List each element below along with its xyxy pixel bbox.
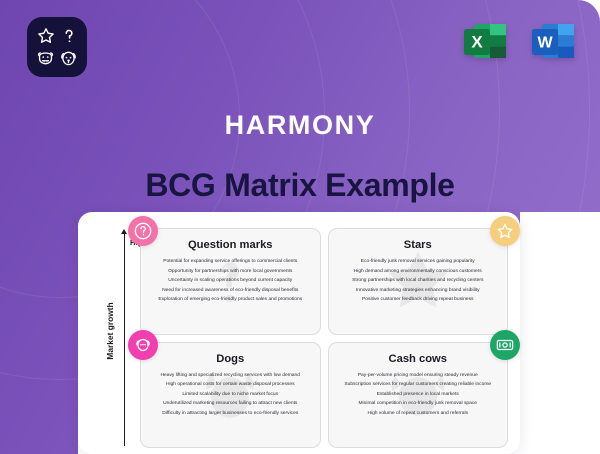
list-item: Positive customer feedback driving repea… <box>336 295 501 305</box>
brand-logo[interactable] <box>27 17 87 77</box>
list-item: Limited scalability due to niche market … <box>148 390 313 400</box>
list-item: Exploration of emerging eco-friendly pro… <box>148 295 313 305</box>
list-item: Established presence in local markets <box>336 390 501 400</box>
list-item: High operational costs for certain waste… <box>148 380 313 390</box>
list-item: Uncertainty in scaling operations beyond… <box>148 276 313 286</box>
svg-text:X: X <box>471 33 483 52</box>
quadrant-item-list: Heavy lifting and specialized recycling … <box>148 371 313 419</box>
cow-icon <box>35 48 57 70</box>
list-item: Innovative marketing strategies enhancin… <box>336 286 501 296</box>
y-axis-title: Market growth <box>105 276 115 386</box>
quadrant-dogs[interactable]: Dogs Heavy lifting and specialized recyc… <box>140 342 321 449</box>
quadrant-title: Question marks <box>188 239 273 251</box>
svg-text:W: W <box>537 35 553 52</box>
list-item: Minimal competition in eco-friendly junk… <box>336 399 501 409</box>
list-item: Need for increased awareness of eco-frie… <box>148 286 313 296</box>
brand-name: HARMONY <box>0 110 600 141</box>
quadrant-item-list: Pay-per-volume pricing model ensuring st… <box>336 371 501 419</box>
list-item: Subscription services for regular custom… <box>336 380 501 390</box>
quadrant-title: Cash cows <box>389 353 447 365</box>
quadrant-item-list: Potential for expanding service offering… <box>148 257 313 305</box>
list-item: Difficulty in attracting larger business… <box>148 409 313 419</box>
list-item: High volume of repeat customers and refe… <box>336 409 501 419</box>
question-mark-icon <box>58 25 80 47</box>
list-item: High demand among environmentally consci… <box>336 267 501 277</box>
star-badge[interactable] <box>490 216 520 246</box>
matrix-grid: Question marks Potential for expanding s… <box>140 228 508 448</box>
dog-icon <box>58 48 80 70</box>
quadrant-question-marks[interactable]: Question marks Potential for expanding s… <box>140 228 321 335</box>
list-item: Pay-per-volume pricing model ensuring st… <box>336 371 501 381</box>
question-mark-badge[interactable] <box>128 216 158 246</box>
quadrant-cash-cows[interactable]: Cash cows Pay-per-volume pricing model e… <box>328 342 509 449</box>
quadrant-title: Dogs <box>216 353 244 365</box>
quadrant-item-list: Eco-friendly junk removal services gaini… <box>336 257 501 305</box>
y-axis-arrow-icon <box>121 229 127 234</box>
matrix-card: High Market growth <box>78 212 520 454</box>
list-item: Strong partnerships with local charities… <box>336 276 501 286</box>
banknote-badge[interactable] <box>490 330 520 360</box>
list-item: Potential for expanding service offering… <box>148 257 313 267</box>
y-axis-line <box>124 232 125 446</box>
quadrant-title: Stars <box>404 239 432 251</box>
slide-canvas: X W HARMONY BCG Matrix Example High Mark… <box>0 0 600 454</box>
list-item: Underutilized marketing resources failin… <box>148 399 313 409</box>
page-title: BCG Matrix Example <box>0 167 600 204</box>
list-item: Heavy lifting and specialized recycling … <box>148 371 313 381</box>
list-item: Eco-friendly junk removal services gaini… <box>336 257 501 267</box>
word-icon[interactable]: W <box>526 14 580 68</box>
star-icon <box>35 25 57 47</box>
page-white-area-right <box>520 212 600 454</box>
list-item: Opportunity for partnerships with more l… <box>148 267 313 277</box>
dog-badge[interactable] <box>128 330 158 360</box>
excel-icon[interactable]: X <box>458 14 512 68</box>
quadrant-stars[interactable]: Stars Eco-friendly junk removal services… <box>328 228 509 335</box>
office-app-icons: X W <box>458 14 580 68</box>
